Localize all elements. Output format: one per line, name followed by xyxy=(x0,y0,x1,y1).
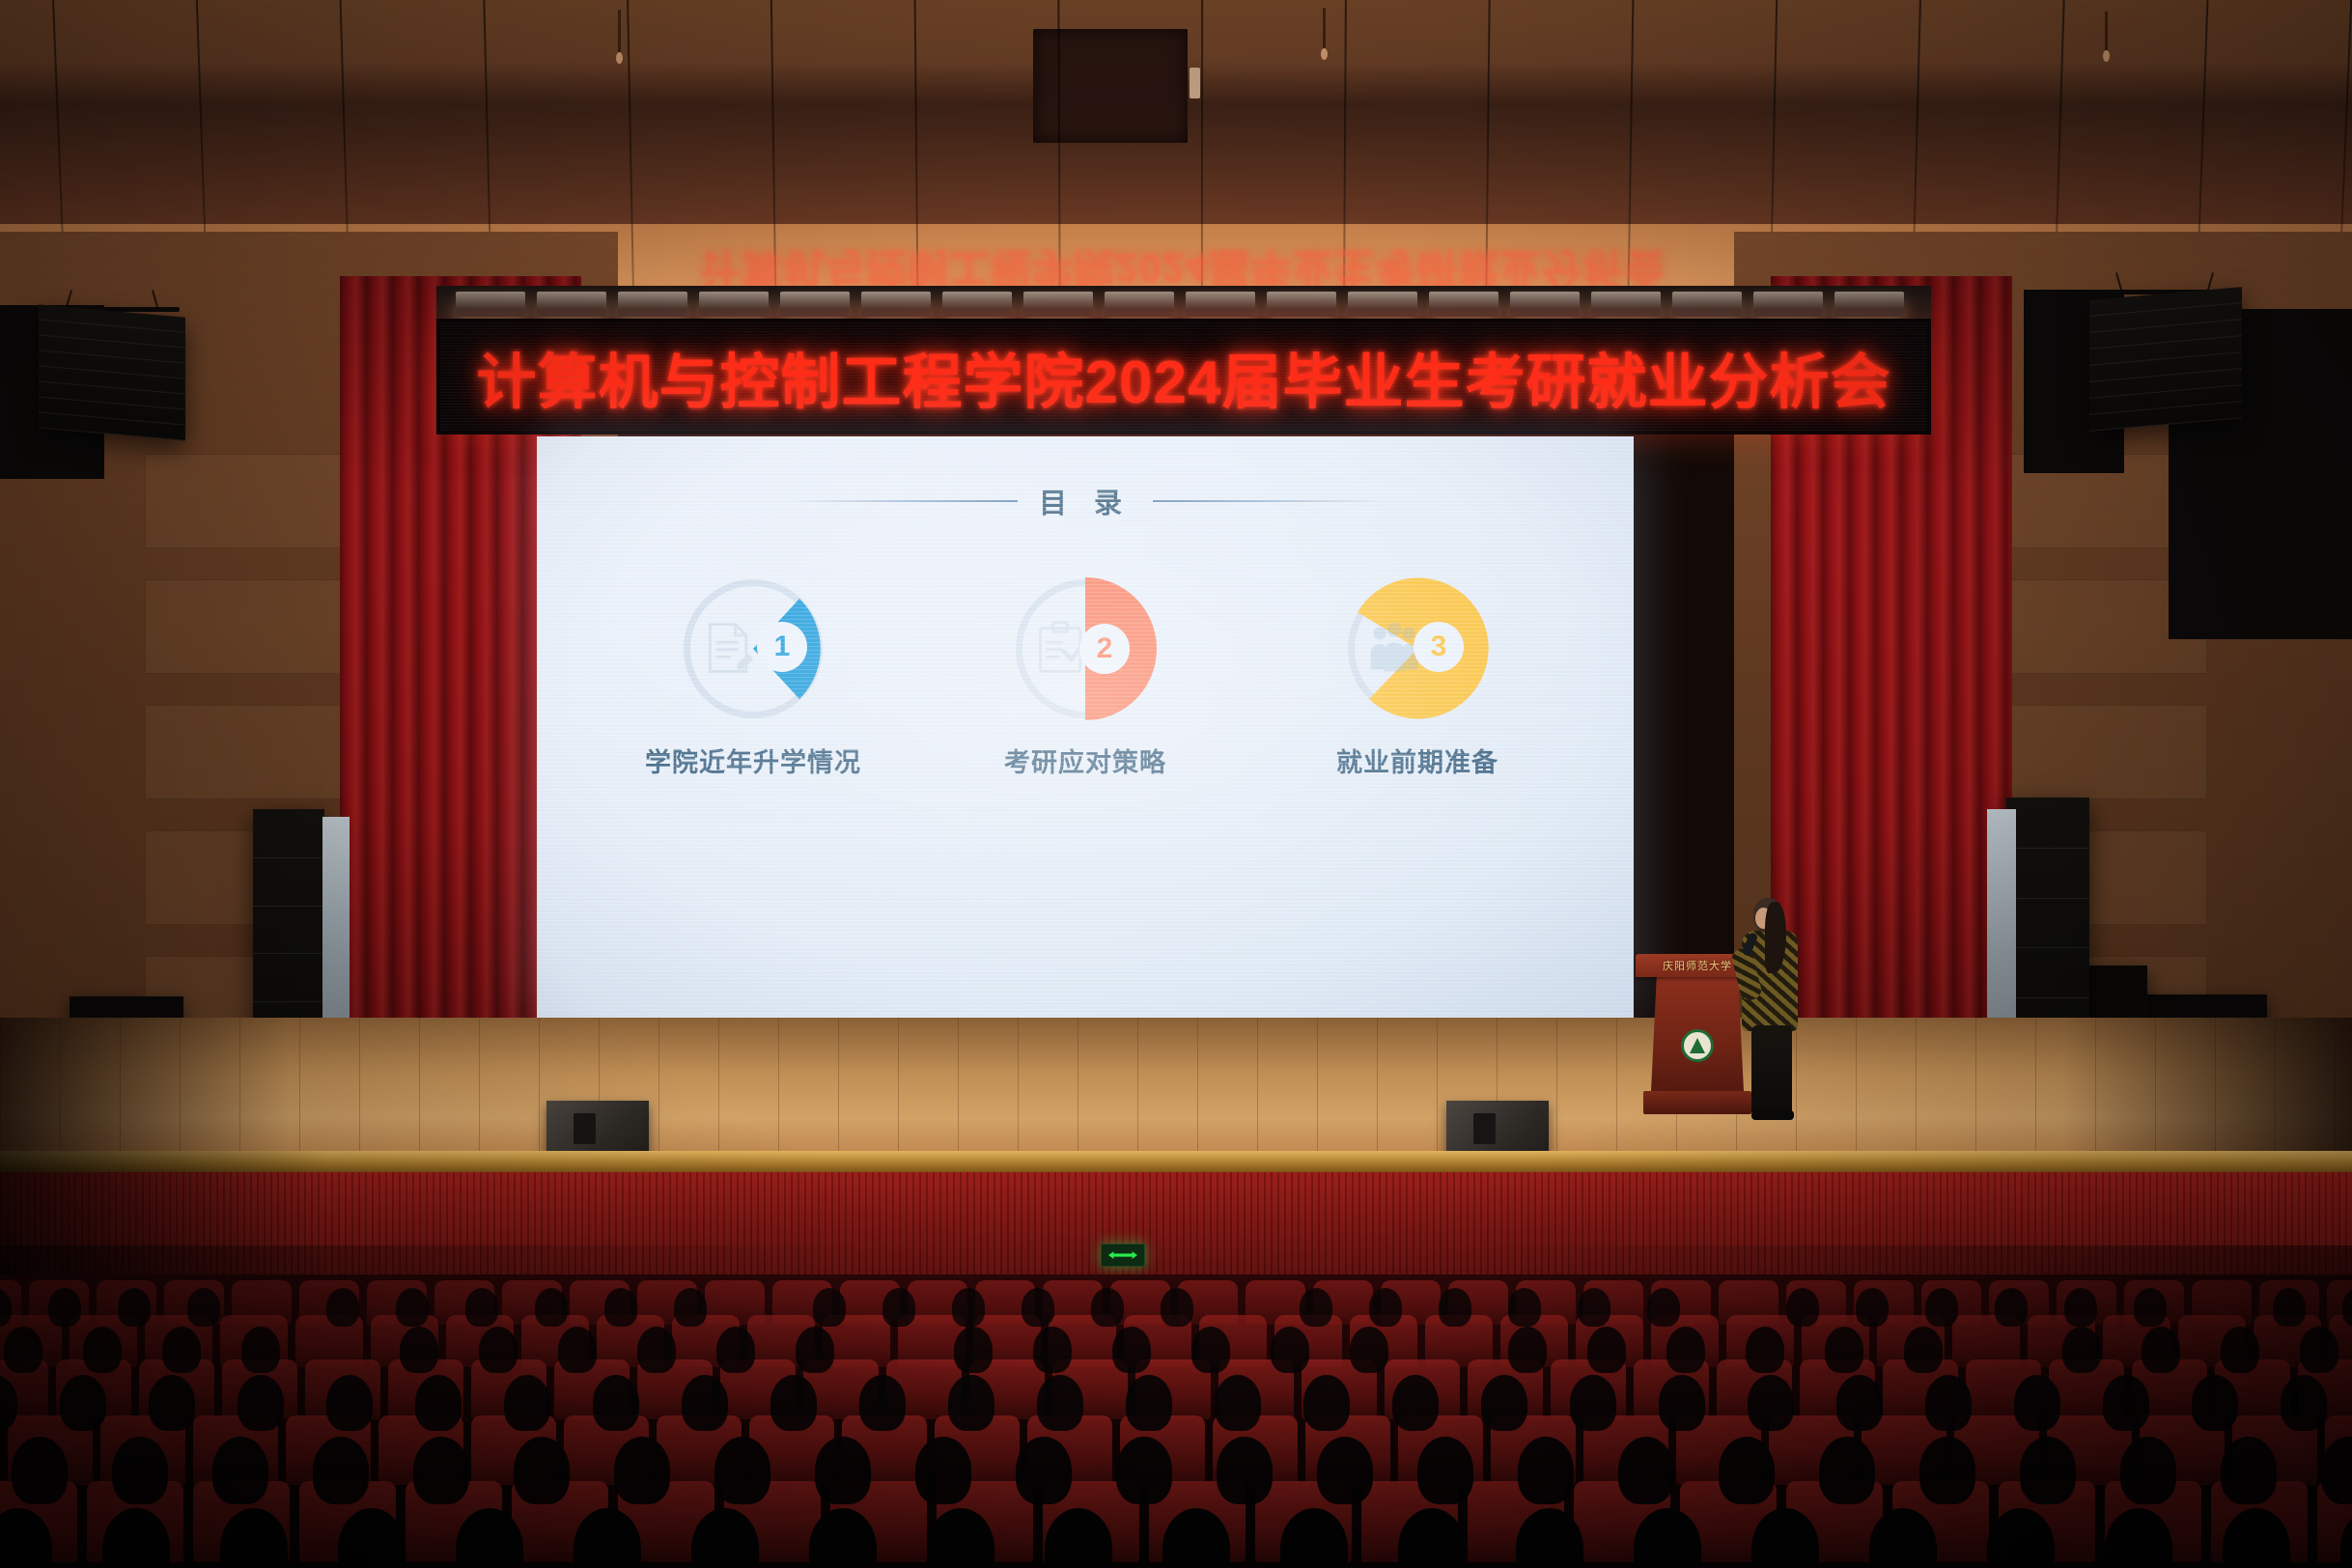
document-pencil-icon xyxy=(701,618,759,678)
slide-title-row: 目 录 xyxy=(537,481,1634,521)
stage-light-fixture xyxy=(780,292,850,317)
toc-number-3: 3 xyxy=(1431,630,1447,663)
ceiling-vent-latch-icon xyxy=(1190,68,1200,98)
stage-apron-gold-trim xyxy=(0,1151,2352,1172)
audience-head xyxy=(614,1437,670,1504)
audience-head xyxy=(1191,1327,1230,1373)
audience-head xyxy=(2273,1288,2306,1327)
stage-light-fixture xyxy=(1348,292,1417,317)
flown-line-array-left xyxy=(39,304,185,440)
audience-head xyxy=(859,1375,906,1431)
audience-head xyxy=(326,1288,359,1327)
ceiling-vent xyxy=(1033,29,1188,143)
stage-light-fixture xyxy=(618,292,687,317)
audience-head xyxy=(770,1375,817,1431)
stage-light-fixture xyxy=(1591,292,1661,317)
audience-head xyxy=(915,1437,971,1504)
audience-head xyxy=(2062,1327,2101,1373)
audience-head xyxy=(1392,1375,1439,1431)
stage-light-fixture xyxy=(699,292,769,317)
audience-head xyxy=(1016,1437,1072,1504)
stage-light-fixture xyxy=(1023,292,1093,317)
auditorium-photo: 计算机与控制工程学院2024届毕业生考研就业分析会 计算机与控制工程学院2024… xyxy=(0,0,2352,1568)
audience-head xyxy=(1350,1327,1388,1373)
stage-light-fixture xyxy=(1267,292,1336,317)
audience-head xyxy=(1995,1288,2028,1327)
university-crest-icon xyxy=(1681,1029,1714,1062)
audience-head xyxy=(674,1288,707,1327)
stage-light-fixture xyxy=(1672,292,1742,317)
audience-head xyxy=(1091,1288,1124,1327)
audience-head xyxy=(2064,1288,2097,1327)
speaker-segment xyxy=(253,953,324,1002)
audience-head xyxy=(593,1375,639,1431)
stage-light-fixture xyxy=(1186,292,1255,317)
audience-head xyxy=(1303,1375,1350,1431)
toc-graphic-1: 1 xyxy=(676,572,830,726)
exit-sign xyxy=(1101,1244,1145,1267)
audience-head xyxy=(1825,1327,1863,1373)
audience-head xyxy=(954,1327,993,1373)
audience-head xyxy=(952,1288,985,1327)
audience-head xyxy=(1481,1375,1527,1431)
audience-head xyxy=(1819,1437,1875,1504)
audience-head xyxy=(2134,1288,2167,1327)
audience-head xyxy=(1161,1288,1193,1327)
audience-head xyxy=(2300,1327,2338,1373)
audience-head xyxy=(2192,1375,2238,1431)
title-rule-right xyxy=(1153,500,1377,502)
audience-head xyxy=(187,1288,220,1327)
audience-head xyxy=(112,1437,168,1504)
speaker-segment xyxy=(2006,848,2089,899)
audience-head xyxy=(1317,1437,1373,1504)
audience-head xyxy=(1508,1327,1547,1373)
audience-head xyxy=(1369,1288,1402,1327)
toc-number-badge-2: 2 xyxy=(1079,624,1130,674)
toc-items: 1 学院近年升学情况 xyxy=(537,572,1634,779)
ceiling-drop-wire xyxy=(2105,12,2108,50)
audience-head xyxy=(4,1327,42,1373)
audience-head xyxy=(83,1327,122,1373)
ceiling-seam xyxy=(1201,0,1203,290)
audience-head xyxy=(48,1288,81,1327)
toc-item-2: 2 考研应对策略 xyxy=(975,572,1195,779)
stage-light-fixture xyxy=(1753,292,1823,317)
audience-head xyxy=(1217,1437,1273,1504)
audience-head xyxy=(716,1327,755,1373)
audience-head xyxy=(12,1437,68,1504)
audience-head xyxy=(60,1375,106,1431)
presenter-shoes xyxy=(1751,1110,1794,1120)
stage-light-fixture xyxy=(1834,292,1904,317)
audience-head xyxy=(1919,1437,1975,1504)
toc-item-3: 3 就业前期准备 xyxy=(1307,572,1527,779)
audience-head xyxy=(212,1437,268,1504)
audience-head xyxy=(162,1327,201,1373)
toc-label-1: 学院近年升学情况 xyxy=(645,742,861,779)
audience-head xyxy=(1587,1327,1626,1373)
audience-head xyxy=(604,1288,637,1327)
audience-head xyxy=(1126,1375,1172,1431)
audience-head xyxy=(2142,1327,2180,1373)
exit-arrow-icon xyxy=(1108,1249,1137,1261)
audience-head xyxy=(1570,1375,1616,1431)
audience-head xyxy=(149,1375,195,1431)
audience-head xyxy=(326,1375,373,1431)
audience-head xyxy=(514,1437,570,1504)
audience-head xyxy=(1836,1375,1883,1431)
audience-head xyxy=(504,1375,550,1431)
flown-line-array-right xyxy=(2089,287,2242,432)
toc-number-1: 1 xyxy=(774,630,791,663)
stage-light-fixture xyxy=(861,292,931,317)
title-rule-left xyxy=(794,500,1018,502)
audience-head xyxy=(714,1437,770,1504)
stage-light-bar xyxy=(436,286,1931,322)
monitor-grill-right xyxy=(1473,1113,1496,1144)
audience-head xyxy=(796,1327,834,1373)
audience-head xyxy=(1417,1437,1473,1504)
audience-head xyxy=(1037,1375,1083,1431)
audience-head xyxy=(1746,1327,1784,1373)
speaker-segment xyxy=(253,809,324,858)
audience-head xyxy=(1300,1288,1332,1327)
toc-number-2: 2 xyxy=(1097,632,1113,665)
speaker-segment xyxy=(253,906,324,955)
audience-head xyxy=(2014,1375,2060,1431)
ceiling-bulb-icon xyxy=(616,52,623,64)
led-banner-inner: 计算机与控制工程学院2024届毕业生考研就业分析会 xyxy=(440,322,1927,431)
audience-head xyxy=(535,1288,568,1327)
toc-number-badge-1: 1 xyxy=(757,622,807,672)
audience-head xyxy=(1666,1327,1705,1373)
audience-head xyxy=(465,1288,498,1327)
audience-head xyxy=(1719,1437,1775,1504)
speaker-segment xyxy=(2006,798,2089,849)
audience-head xyxy=(1215,1375,1261,1431)
audience-head xyxy=(1856,1288,1889,1327)
audience-head xyxy=(1578,1288,1610,1327)
audience-head xyxy=(637,1327,676,1373)
speaker-segment xyxy=(2006,947,2089,998)
audience-head xyxy=(682,1375,728,1431)
audience-head xyxy=(415,1375,462,1431)
audience-head xyxy=(1439,1288,1471,1327)
presenter-legs xyxy=(1751,1025,1792,1114)
stage-light-fixture xyxy=(537,292,606,317)
ceiling-bulb-icon xyxy=(1321,48,1328,60)
projection-screen: 目 录 1 xyxy=(537,436,1634,1018)
audience-head xyxy=(413,1437,469,1504)
audience-head xyxy=(813,1288,846,1327)
audience-head xyxy=(1271,1327,1309,1373)
stage-light-fixture xyxy=(1105,292,1174,317)
audience-seating xyxy=(0,1274,2352,1568)
stage-light-fixture xyxy=(456,292,525,317)
audience-head xyxy=(1518,1437,1574,1504)
ceiling-bulb-icon xyxy=(2103,50,2110,62)
stage-light-fixture xyxy=(942,292,1012,317)
toc-label-3: 就业前期准备 xyxy=(1336,742,1498,779)
audience-head xyxy=(815,1437,871,1504)
toc-item-1: 1 学院近年升学情况 xyxy=(643,572,863,779)
audience-head xyxy=(2281,1375,2327,1431)
stage-monitor-left xyxy=(546,1101,649,1157)
led-banner: 计算机与控制工程学院2024届毕业生考研就业分析会 xyxy=(436,319,1931,434)
audience-head xyxy=(2120,1437,2176,1504)
audience-head xyxy=(1925,1375,1972,1431)
stage-light-fixture xyxy=(1429,292,1498,317)
audience-head xyxy=(238,1375,284,1431)
speaker-segment xyxy=(253,857,324,907)
audience-head xyxy=(882,1288,915,1327)
audience-head xyxy=(1904,1327,1943,1373)
toc-graphic-3: 3 xyxy=(1340,572,1495,726)
audience-head xyxy=(2103,1375,2149,1431)
ceiling-drop-wire xyxy=(1323,8,1326,48)
presenter xyxy=(1732,898,1804,1122)
audience-head xyxy=(1786,1288,1819,1327)
audience-head xyxy=(1112,1327,1151,1373)
audience-head xyxy=(241,1327,280,1373)
audience-head xyxy=(1647,1288,1680,1327)
audience-head xyxy=(2221,1327,2259,1373)
audience-head xyxy=(1033,1327,1072,1373)
toc-label-2: 考研应对策略 xyxy=(1004,742,1166,779)
audience-head xyxy=(396,1288,429,1327)
audience-head xyxy=(558,1327,597,1373)
audience-head xyxy=(118,1288,151,1327)
audience-head xyxy=(1508,1288,1541,1327)
audience-head xyxy=(1925,1288,1958,1327)
audience-head xyxy=(400,1327,438,1373)
audience-head xyxy=(1022,1288,1054,1327)
audience-head xyxy=(1748,1375,1794,1431)
slide-title: 目 录 xyxy=(1039,481,1132,521)
audience-head xyxy=(313,1437,369,1504)
stage-light-fixture xyxy=(1510,292,1580,317)
audience-head xyxy=(2221,1437,2277,1504)
audience-head xyxy=(1618,1437,1674,1504)
stage-monitor-right xyxy=(1446,1101,1549,1157)
toc-graphic-2: 2 xyxy=(1008,572,1162,726)
led-banner-text: 计算机与控制工程学院2024届毕业生考研就业分析会 xyxy=(477,333,1891,420)
ceiling-drop-wire xyxy=(618,10,621,52)
monitor-grill-left xyxy=(574,1113,596,1144)
audience-head xyxy=(948,1375,994,1431)
speaker-segment xyxy=(2006,898,2089,949)
audience-head xyxy=(1116,1437,1172,1504)
audience-head xyxy=(2020,1437,2076,1504)
audience-head xyxy=(1659,1375,1705,1431)
toc-number-badge-3: 3 xyxy=(1414,622,1464,672)
audience-head xyxy=(479,1327,518,1373)
